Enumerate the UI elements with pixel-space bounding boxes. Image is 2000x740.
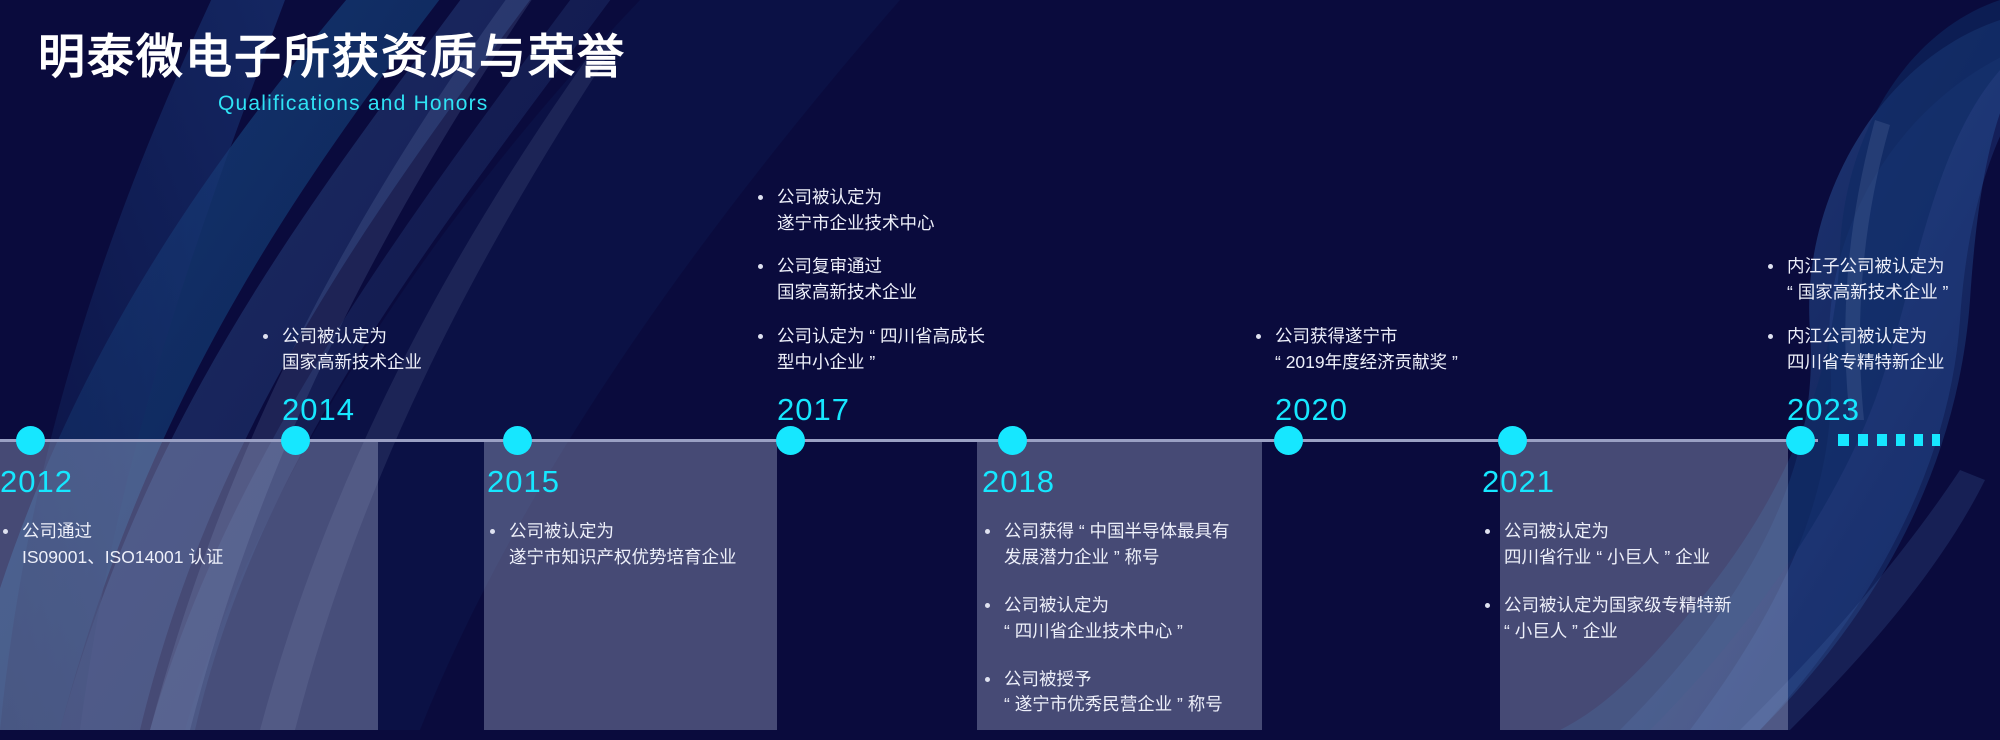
bullet-item: 公司被认定为 遂宁市企业技术中心 xyxy=(755,185,985,237)
bullet-item: 公司通过 IS09001、ISO14001 认证 xyxy=(0,519,508,571)
bullet-list-2015: 公司被认定为 遂宁市知识产权优势培育企业 xyxy=(487,519,910,571)
timeline-entry-2015: 2015公司被认定为 遂宁市知识产权优势培育企业 xyxy=(487,466,910,593)
timeline-node-dot-2017[interactable] xyxy=(776,426,805,455)
page-title: 明泰微电子所获资质与荣誉 xyxy=(38,30,626,84)
timeline-node-dot-2018[interactable] xyxy=(998,426,1027,455)
bullet-item: 公司被认定为 “ 四川省企业技术中心 ” xyxy=(982,593,1397,645)
timeline-entry-2017: 公司被认定为 遂宁市企业技术中心公司复审通过 国家高新技术企业公司认定为 “ 四… xyxy=(755,185,985,425)
bullet-list-2018: 公司获得 “ 中国半导体最具有 发展潜力企业 ” 称号公司被认定为 “ 四川省企… xyxy=(982,519,1397,718)
timeline-axis xyxy=(0,439,1818,442)
bullet-item: 公司被授予 “ 遂宁市优秀民营企业 ” 称号 xyxy=(982,667,1397,719)
bullet-list-2014: 公司被认定为 国家高新技术企业 xyxy=(260,324,422,376)
bullet-item: 公司被认定为国家级专精特新 “ 小巨人 ” 企业 xyxy=(1482,593,1900,645)
bullet-item: 公司被认定为 四川省行业 “ 小巨人 ” 企业 xyxy=(1482,519,1900,571)
timeline-year-label: 2023 xyxy=(1787,394,1948,425)
bullet-item: 公司复审通过 国家高新技术企业 xyxy=(755,254,985,306)
timeline-node-dot-2012[interactable] xyxy=(16,426,45,455)
timeline-node-dot-2023[interactable] xyxy=(1786,426,1815,455)
bullet-item: 公司被认定为 遂宁市知识产权优势培育企业 xyxy=(487,519,910,571)
bullet-item: 内江公司被认定为 四川省专精特新企业 xyxy=(1765,324,1948,376)
axis-dash xyxy=(1858,434,1868,446)
timeline-year-label: 2012 xyxy=(0,466,508,497)
timeline-node-dot-2014[interactable] xyxy=(281,426,310,455)
axis-dash xyxy=(1896,434,1905,446)
page-heading: 明泰微电子所获资质与荣誉 Qualifications and Honors xyxy=(38,30,626,116)
timeline-node-dot-2020[interactable] xyxy=(1274,426,1303,455)
bullet-item: 内江子公司被认定为 “ 国家高新技术企业 ” xyxy=(1765,254,1948,306)
axis-dash xyxy=(1932,434,1940,446)
bullet-item: 公司获得遂宁市 “ 2019年度经济贡献奖 ” xyxy=(1253,324,1458,376)
timeline-entry-2012: 2012公司通过 IS09001、ISO14001 认证 xyxy=(0,466,508,593)
timeline-entry-2014: 公司被认定为 国家高新技术企业2014 xyxy=(260,324,422,425)
timeline-axis-dashes xyxy=(1838,434,1940,446)
bullet-list-2023: 内江子公司被认定为 “ 国家高新技术企业 ”内江公司被认定为 四川省专精特新企业 xyxy=(1765,254,1948,376)
bullet-list-2020: 公司获得遂宁市 “ 2019年度经济贡献奖 ” xyxy=(1253,324,1458,376)
timeline-year-label: 2018 xyxy=(982,466,1397,497)
timeline-entry-2021: 2021公司被认定为 四川省行业 “ 小巨人 ” 企业公司被认定为国家级专精特新… xyxy=(1482,466,1900,667)
axis-dash xyxy=(1914,434,1923,446)
bullet-item: 公司获得 “ 中国半导体最具有 发展潜力企业 ” 称号 xyxy=(982,519,1397,571)
timeline-node-dot-2015[interactable] xyxy=(503,426,532,455)
bullet-item: 公司认定为 “ 四川省高成长 型中小企业 ” xyxy=(755,324,985,376)
bullet-list-2012: 公司通过 IS09001、ISO14001 认证 xyxy=(0,519,508,571)
timeline-year-label: 2015 xyxy=(487,466,910,497)
page-subtitle: Qualifications and Honors xyxy=(218,92,626,116)
timeline-node-dot-2021[interactable] xyxy=(1498,426,1527,455)
timeline-entry-2023: 内江子公司被认定为 “ 国家高新技术企业 ”内江公司被认定为 四川省专精特新企业… xyxy=(1765,254,1948,425)
bullet-list-2017: 公司被认定为 遂宁市企业技术中心公司复审通过 国家高新技术企业公司认定为 “ 四… xyxy=(755,185,985,376)
timeline-year-label: 2014 xyxy=(282,394,422,425)
timeline-year-label: 2021 xyxy=(1482,466,1900,497)
timeline-year-label: 2017 xyxy=(777,394,985,425)
timeline-year-label: 2020 xyxy=(1275,394,1458,425)
bullet-item: 公司被认定为 国家高新技术企业 xyxy=(260,324,422,376)
timeline-entry-2020: 公司获得遂宁市 “ 2019年度经济贡献奖 ”2020 xyxy=(1253,324,1458,425)
axis-dash xyxy=(1877,434,1887,446)
axis-dash xyxy=(1838,434,1849,446)
bullet-list-2021: 公司被认定为 四川省行业 “ 小巨人 ” 企业公司被认定为国家级专精特新 “ 小… xyxy=(1482,519,1900,645)
timeline-entry-2018: 2018公司获得 “ 中国半导体最具有 发展潜力企业 ” 称号公司被认定为 “ … xyxy=(982,466,1397,740)
